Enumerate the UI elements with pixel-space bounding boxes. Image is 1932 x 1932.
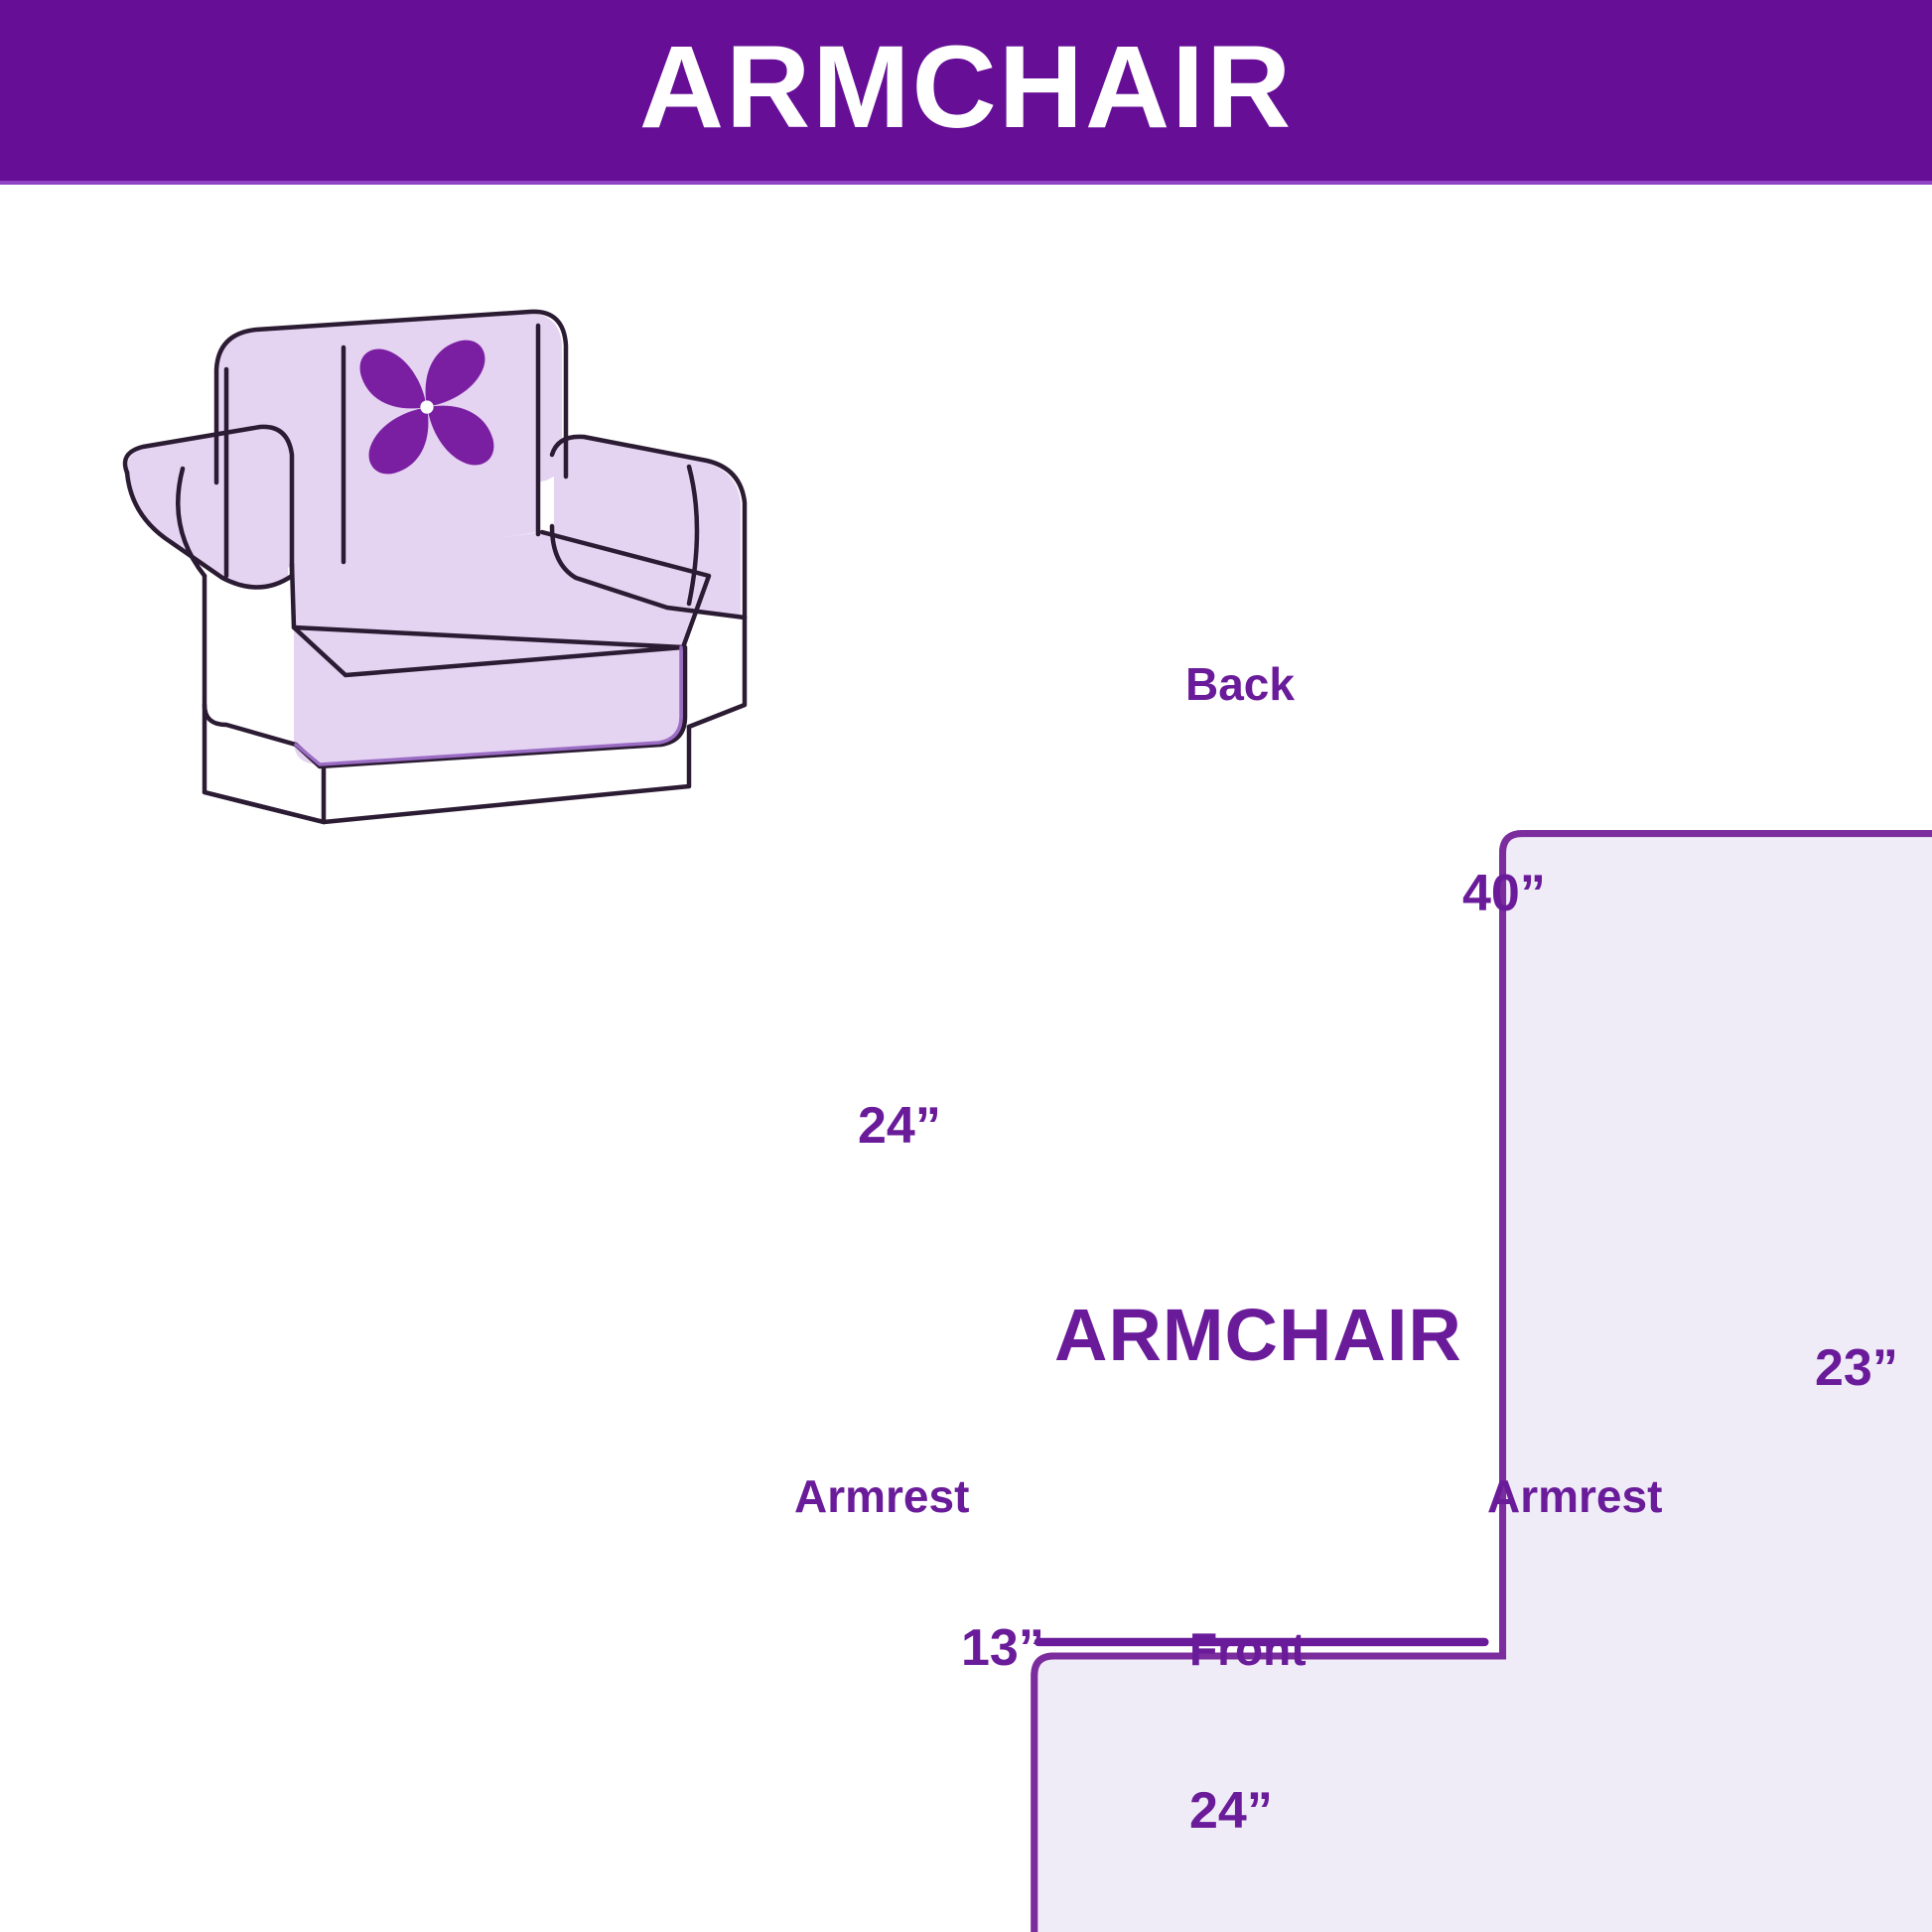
dimension-label-seat-depth: 23”	[1815, 1342, 1898, 1394]
panel-label-armrest-right: Armrest	[1487, 1473, 1662, 1519]
panel-label-back: Back	[1185, 661, 1295, 707]
dimension-label-back-height: 40”	[1462, 868, 1546, 919]
dimension-label-front-height: 13”	[961, 1622, 1044, 1674]
panel-label-front: Front	[1189, 1626, 1307, 1672]
dimension-label-front-width: 24”	[1189, 1785, 1273, 1837]
product-dimension-infographic: ARMCHAIR	[0, 0, 1932, 1932]
cross-layout-diagram	[556, 556, 1932, 1932]
panel-label-armrest-left: Armrest	[794, 1473, 969, 1519]
dimension-label-back-width: 24”	[858, 1100, 941, 1152]
diagram-center-label: ARMCHAIR	[1054, 1299, 1462, 1372]
